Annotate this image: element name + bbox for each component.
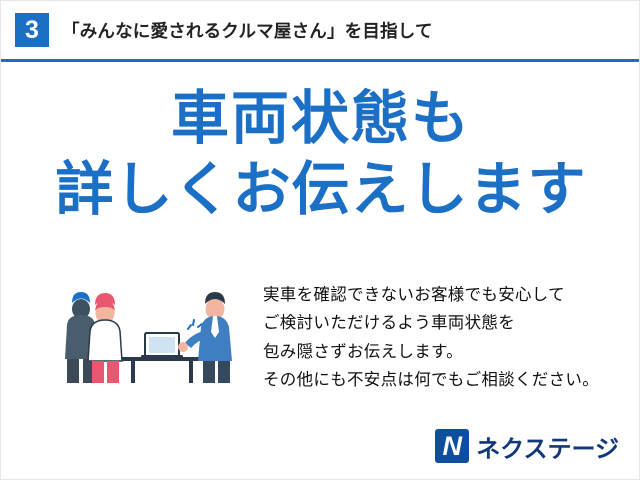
brand-logo-text: ネクステージ: [476, 429, 619, 464]
paragraph-line-2: ご検討いただけるよう車両状態を: [263, 309, 599, 337]
banner-footer: N ネクステージ: [1, 417, 640, 479]
banner-header: 3 「みんなに愛されるクルマ屋さん」を目指して: [1, 1, 640, 62]
brand-logo-letter: N: [435, 429, 469, 463]
headline: 車両状態も 詳しくお伝えします: [1, 87, 640, 223]
step-number-badge: 3: [15, 13, 49, 47]
paragraph-line-3: 包み隠さずお伝えします。: [263, 338, 599, 366]
brand-logo: N ネクステージ: [435, 429, 619, 464]
paragraph-line-1: 実車を確認できないお客様でも安心して: [263, 281, 599, 309]
headline-line-1: 車両状態も: [1, 87, 640, 152]
brand-logo-mark-icon: N: [435, 429, 469, 463]
promo-banner: 3 「みんなに愛されるクルマ屋さん」を目指して 車両状態も 詳しくお伝えします: [0, 0, 640, 480]
body-section: 実車を確認できないお客様でも安心して ご検討いただけるよう車両状態を 包み隠さず…: [1, 273, 640, 403]
staff-explaining-to-customers-illustration: [57, 273, 257, 393]
headline-line-2: 詳しくお伝えします: [1, 158, 640, 223]
header-title: 「みんなに愛されるクルマ屋さん」を目指して: [62, 18, 433, 43]
description-paragraph: 実車を確認できないお客様でも安心して ご検討いただけるよう車両状態を 包み隠さず…: [263, 281, 599, 395]
paragraph-line-4: その他にも不安点は何でもご相談ください。: [263, 366, 599, 394]
